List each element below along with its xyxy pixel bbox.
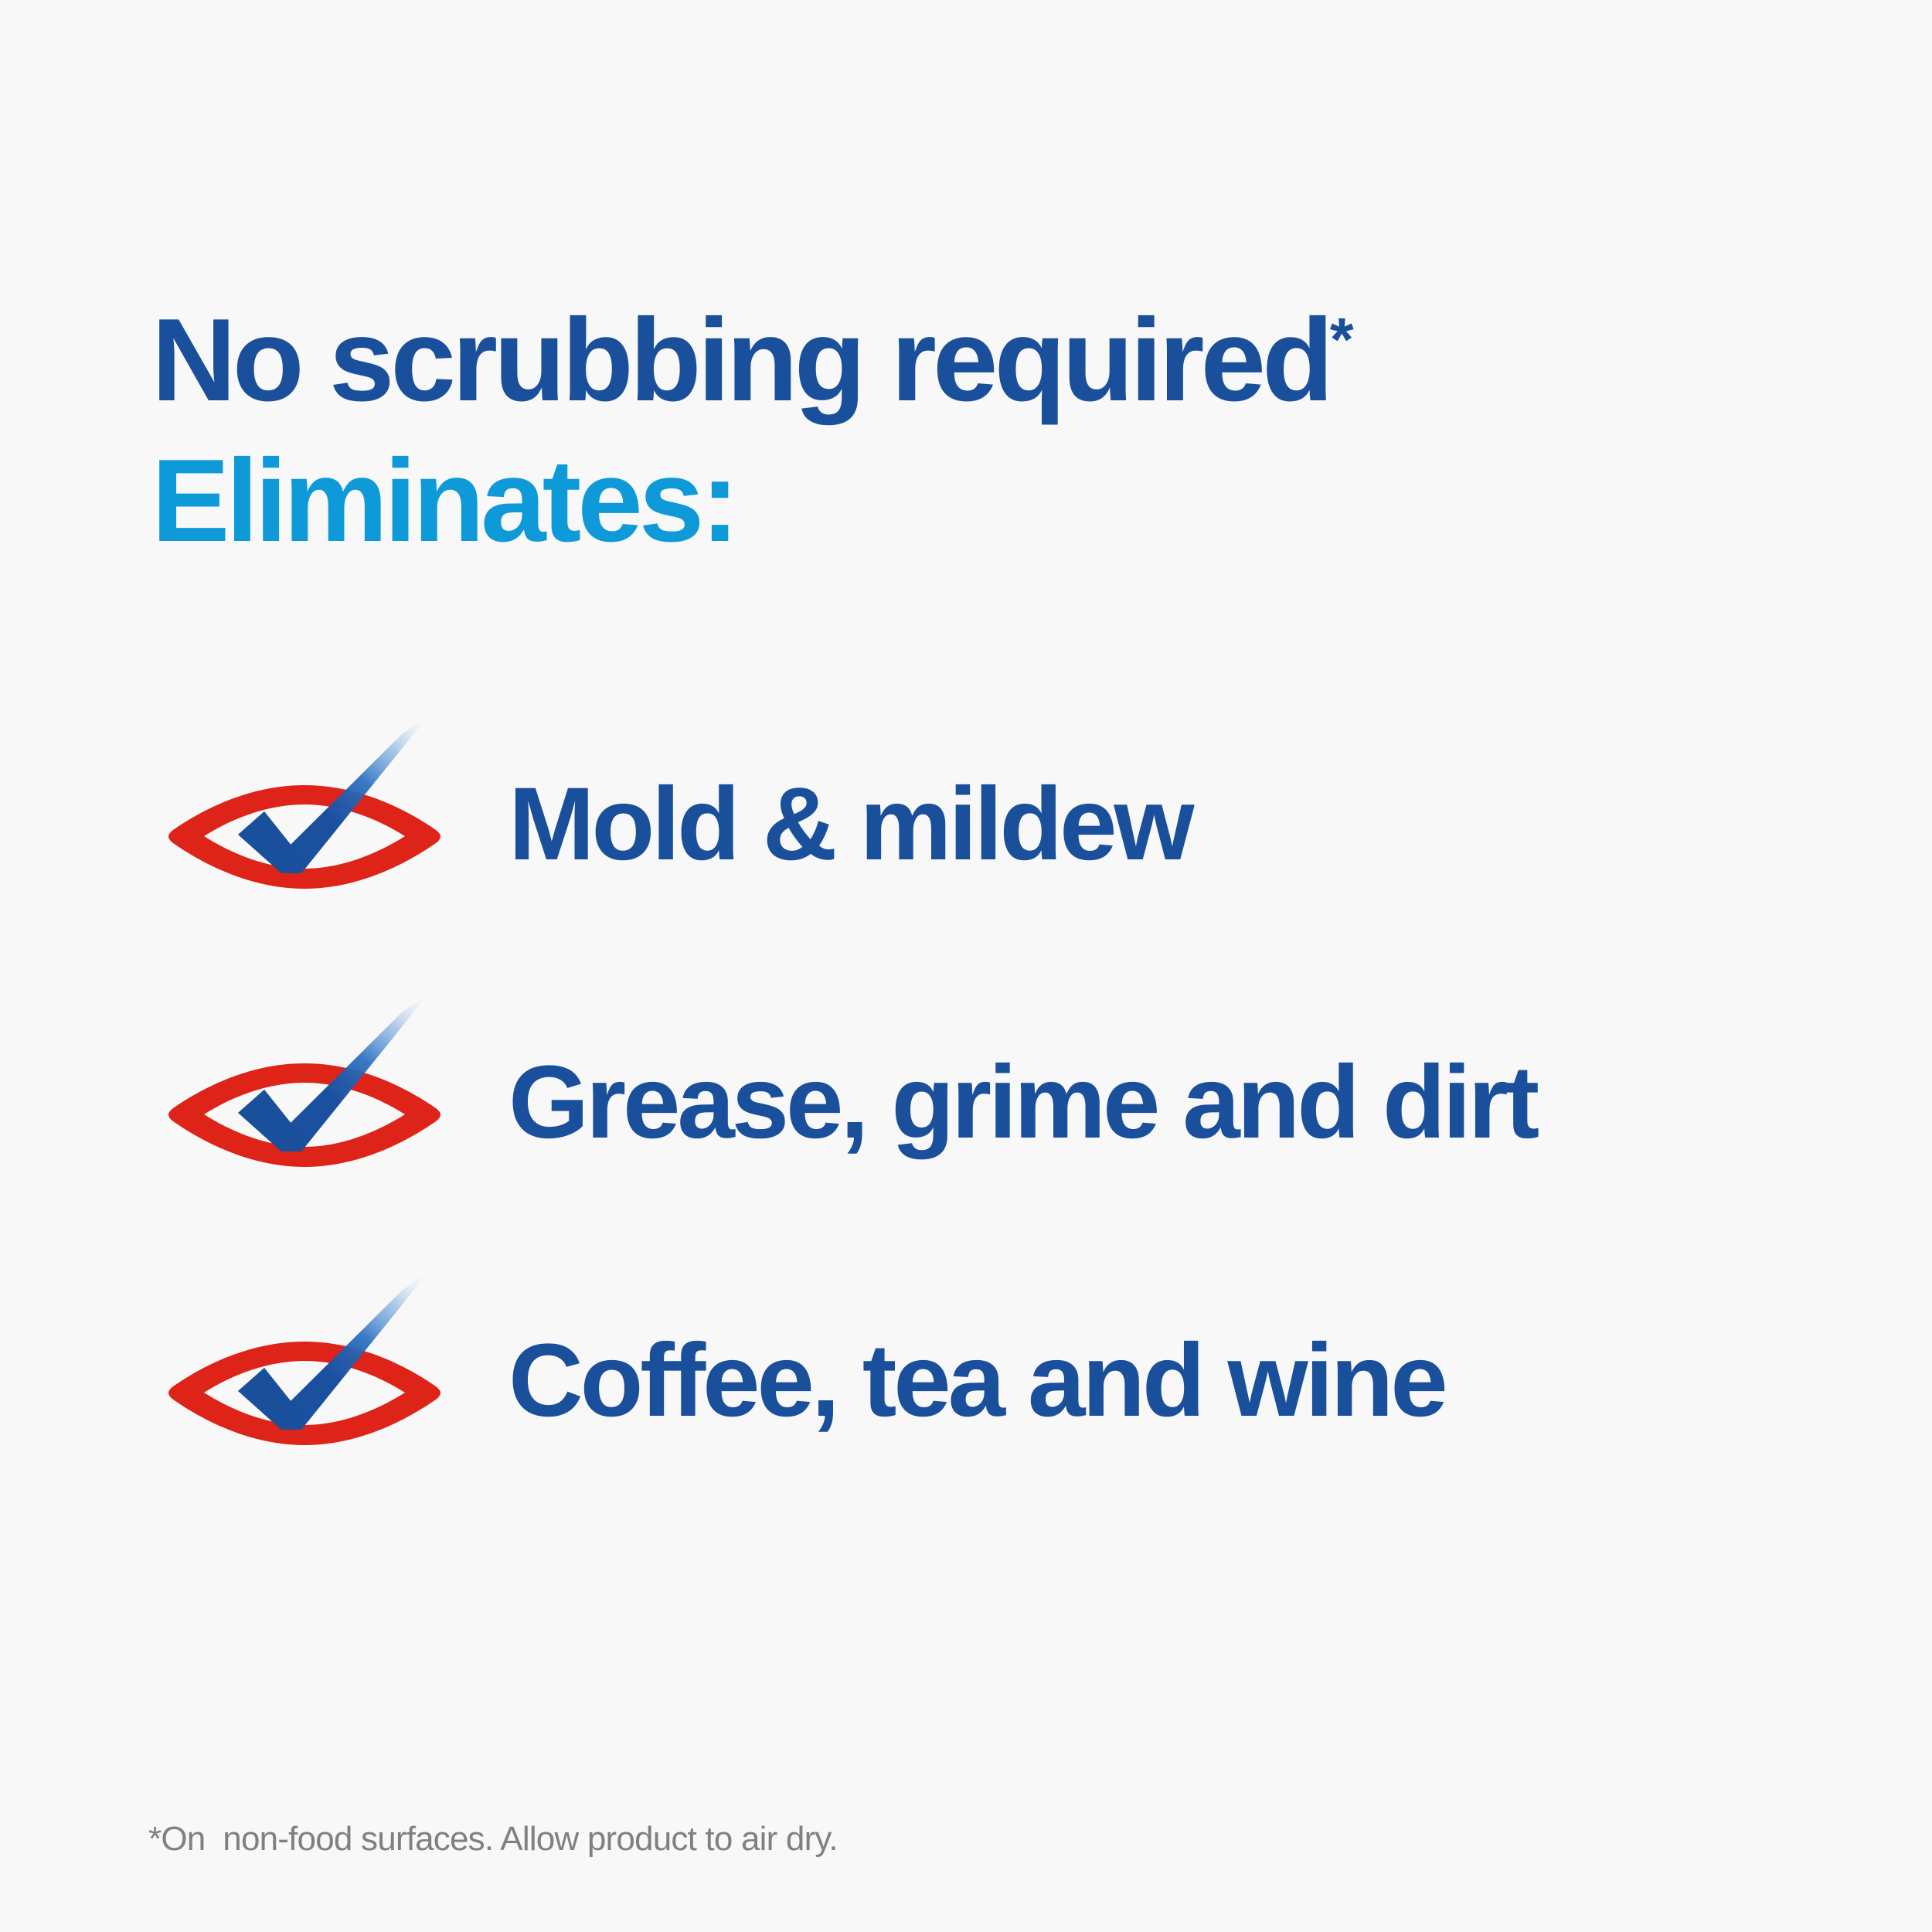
red-lens-blue-check-icon xyxy=(147,997,471,1229)
promo-canvas: No scrubbing required* Eliminates: xyxy=(0,0,1932,1932)
benefit-label: Coffee, tea and wine xyxy=(509,1329,1445,1433)
footnote-disclaimer: *On non-food surfaces. Allow product to … xyxy=(148,1818,838,1860)
benefit-list: Mold & mildew xyxy=(147,719,1893,1553)
red-lens-blue-check-icon xyxy=(147,1275,471,1507)
benefit-label: Grease, grime and dirt xyxy=(509,1051,1536,1155)
list-item: Mold & mildew xyxy=(147,719,1893,997)
headline-primary-text: No scrubbing required xyxy=(151,294,1330,426)
list-item: Grease, grime and dirt xyxy=(147,997,1893,1275)
headline-line-primary: No scrubbing required* xyxy=(151,292,1852,428)
list-item: Coffee, tea and wine xyxy=(147,1275,1893,1553)
benefit-label: Mold & mildew xyxy=(509,773,1191,876)
headline-line-accent: Eliminates: xyxy=(151,433,1852,569)
headline-asterisk-marker: * xyxy=(1330,304,1354,373)
red-lens-blue-check-icon xyxy=(147,719,471,951)
headline-block: No scrubbing required* Eliminates: xyxy=(151,292,1852,570)
